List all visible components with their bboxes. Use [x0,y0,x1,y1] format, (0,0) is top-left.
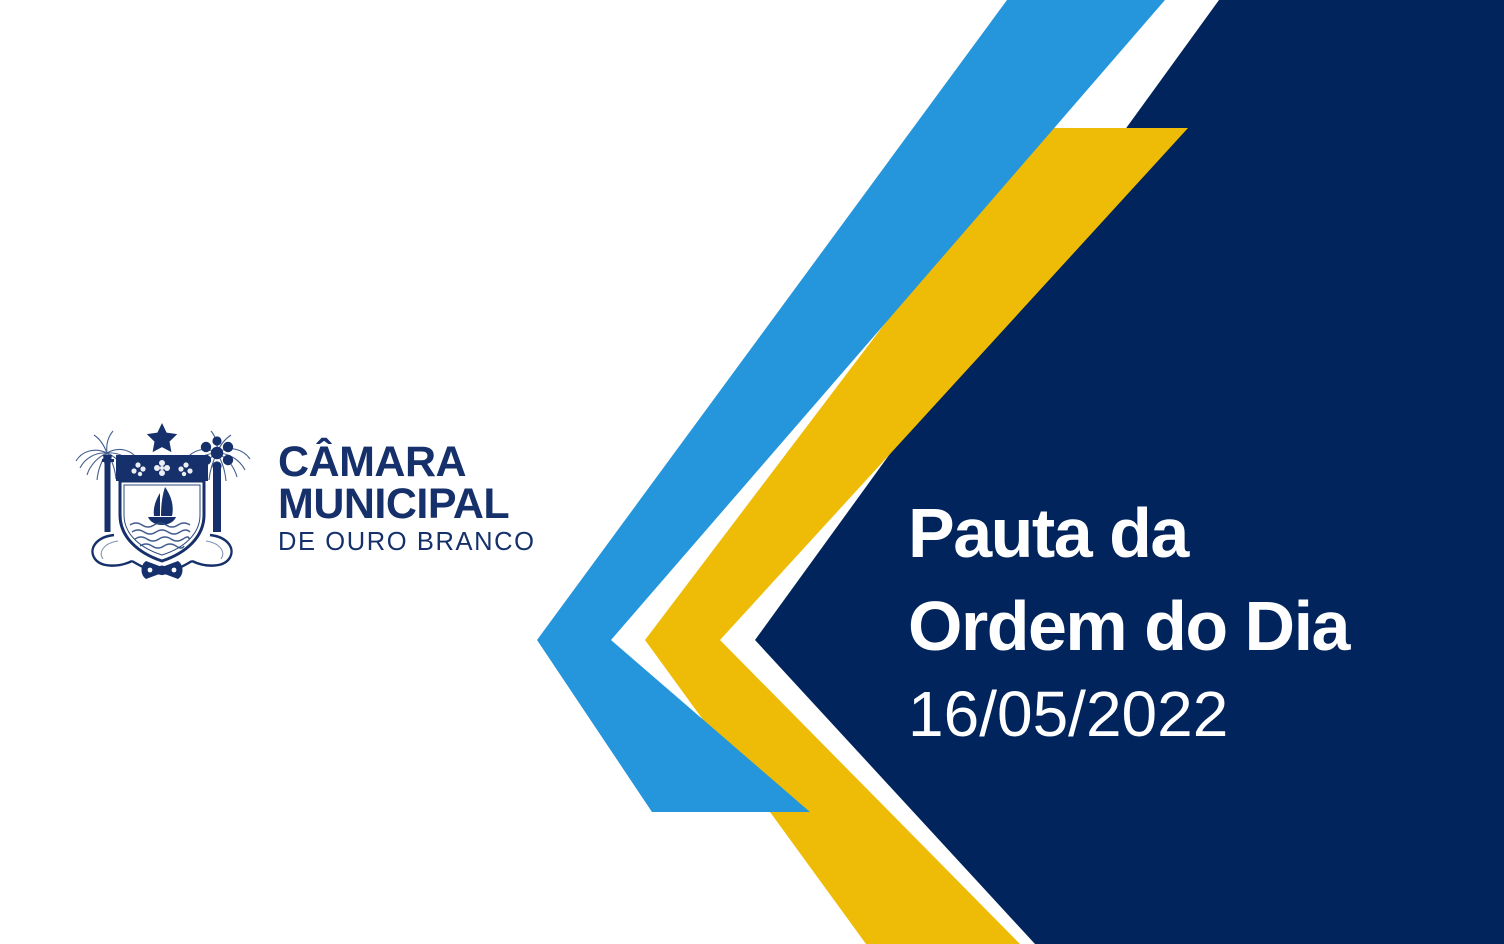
banner-title-block: Pauta da Ordem do Dia 16/05/2022 [908,487,1468,753]
coat-of-arms-icon [62,415,262,590]
camara-logo: CÂMARA MUNICIPAL DE OURO BRANCO [62,412,532,592]
logo-line-camara: CÂMARA [278,441,536,483]
banner-title-line-2: Ordem do Dia [908,580,1468,673]
logo-line-ouro-branco: DE OURO BRANCO [278,527,536,559]
banner-title-line-1: Pauta da [908,487,1468,580]
logo-line-municipal: MUNICIPAL [278,483,536,525]
slide-canvas: CÂMARA MUNICIPAL DE OURO BRANCO Pauta da… [0,0,1504,944]
banner-date: 16/05/2022 [908,675,1468,753]
logo-wordmark: CÂMARA MUNICIPAL DE OURO BRANCO [278,441,536,563]
